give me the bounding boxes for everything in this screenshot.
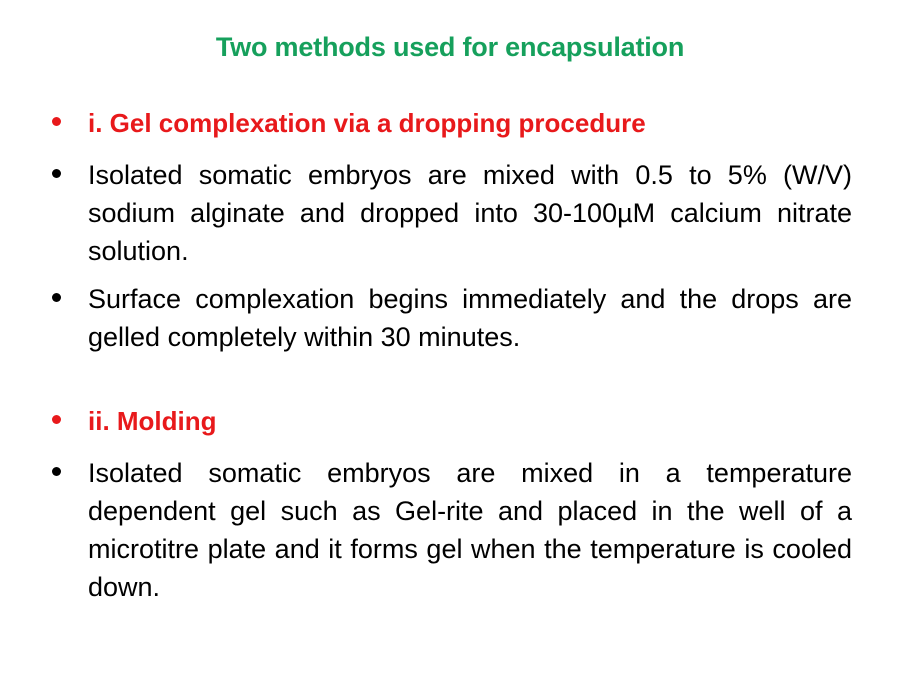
bullet-item-method-1-heading: i. Gel complexation via a dropping proce… — [48, 104, 852, 142]
bullet-item-method-1-detail-1: Isolated somatic embryos are mixed with … — [48, 156, 852, 270]
slide-body: i. Gel complexation via a dropping proce… — [48, 104, 852, 606]
bullet-dot-red-icon — [48, 104, 88, 142]
bullet-dot-black-icon — [48, 280, 88, 318]
bullet-item-method-2-detail-1: Isolated somatic embryos are mixed in a … — [48, 454, 852, 606]
bullet-text-method-2-heading: ii. Molding — [88, 402, 852, 440]
section-spacer — [48, 356, 852, 402]
bullet-text-method-1-detail-2: Surface complexation begins immediately … — [88, 280, 852, 356]
spacer — [48, 142, 852, 156]
bullet-item-method-1-detail-2: Surface complexation begins immediately … — [48, 280, 852, 356]
spacer — [48, 440, 852, 454]
bullet-dot-black-icon — [48, 156, 88, 194]
bullet-text-method-1-heading: i. Gel complexation via a dropping proce… — [88, 104, 852, 142]
bullet-item-method-2-heading: ii. Molding — [48, 402, 852, 440]
bullet-text-method-2-detail-1: Isolated somatic embryos are mixed in a … — [88, 454, 852, 606]
bullet-dot-black-icon — [48, 454, 88, 492]
slide-title: Two methods used for encapsulation — [0, 30, 900, 64]
presentation-slide: Two methods used for encapsulation i. Ge… — [0, 0, 900, 675]
spacer — [48, 270, 852, 280]
bullet-dot-red-icon — [48, 402, 88, 440]
bullet-text-method-1-detail-1: Isolated somatic embryos are mixed with … — [88, 156, 852, 270]
